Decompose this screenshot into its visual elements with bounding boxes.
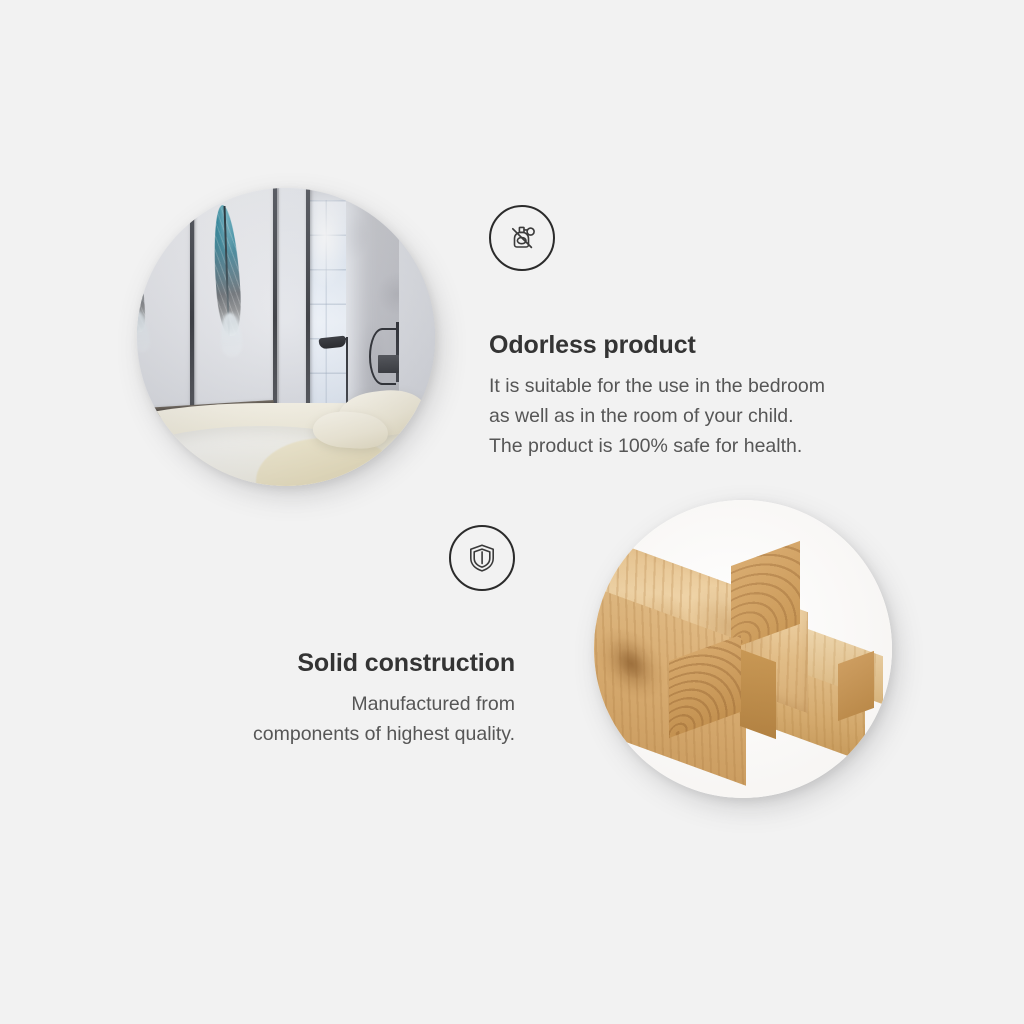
feather-artwork-center (211, 204, 244, 337)
bedroom-scene (137, 188, 435, 486)
panel-divider-1 (190, 188, 194, 409)
feature-body-line: The product is 100% safe for health. (489, 431, 929, 461)
feature-block-odorless: Odorless product It is suitable for the … (489, 205, 929, 461)
glass-block-window (305, 200, 345, 403)
no-perfume-icon (489, 205, 555, 271)
shield-icon (449, 525, 515, 591)
feature-block-solid-construction: Solid construction Manufactured from com… (160, 525, 515, 749)
shield-glyph (462, 538, 502, 578)
feather-artwork-left (137, 211, 149, 335)
feature-body-line: Manufactured from (160, 689, 515, 719)
art-panel-left (137, 188, 191, 409)
feature-body-line: It is suitable for the use in the bedroo… (489, 371, 929, 401)
feature-body-odorless: It is suitable for the use in the bedroo… (489, 371, 929, 461)
no-perfume-glyph (502, 218, 542, 258)
bedroom-feather-artwork-photo (137, 188, 435, 486)
panel-divider-3 (306, 188, 310, 409)
nightstand (378, 355, 399, 373)
feature-title-odorless: Odorless product (489, 331, 929, 360)
feature-body-line: components of highest quality. (160, 719, 515, 749)
block-side-face (740, 649, 776, 739)
feature-body-solid-construction: Manufactured from components of highest … (160, 689, 515, 749)
wooden-blocks-photo (594, 500, 892, 798)
feature-title-solid-construction: Solid construction (160, 649, 515, 678)
wood-scene (594, 500, 892, 798)
panel-divider-2 (273, 188, 277, 409)
feature-body-line: as well as in the room of your child. (489, 401, 929, 431)
right-wall (399, 188, 435, 414)
infographic-page: Odorless product It is suitable for the … (0, 0, 1024, 1024)
art-panel-right (279, 188, 309, 409)
art-panel-center (195, 188, 275, 409)
